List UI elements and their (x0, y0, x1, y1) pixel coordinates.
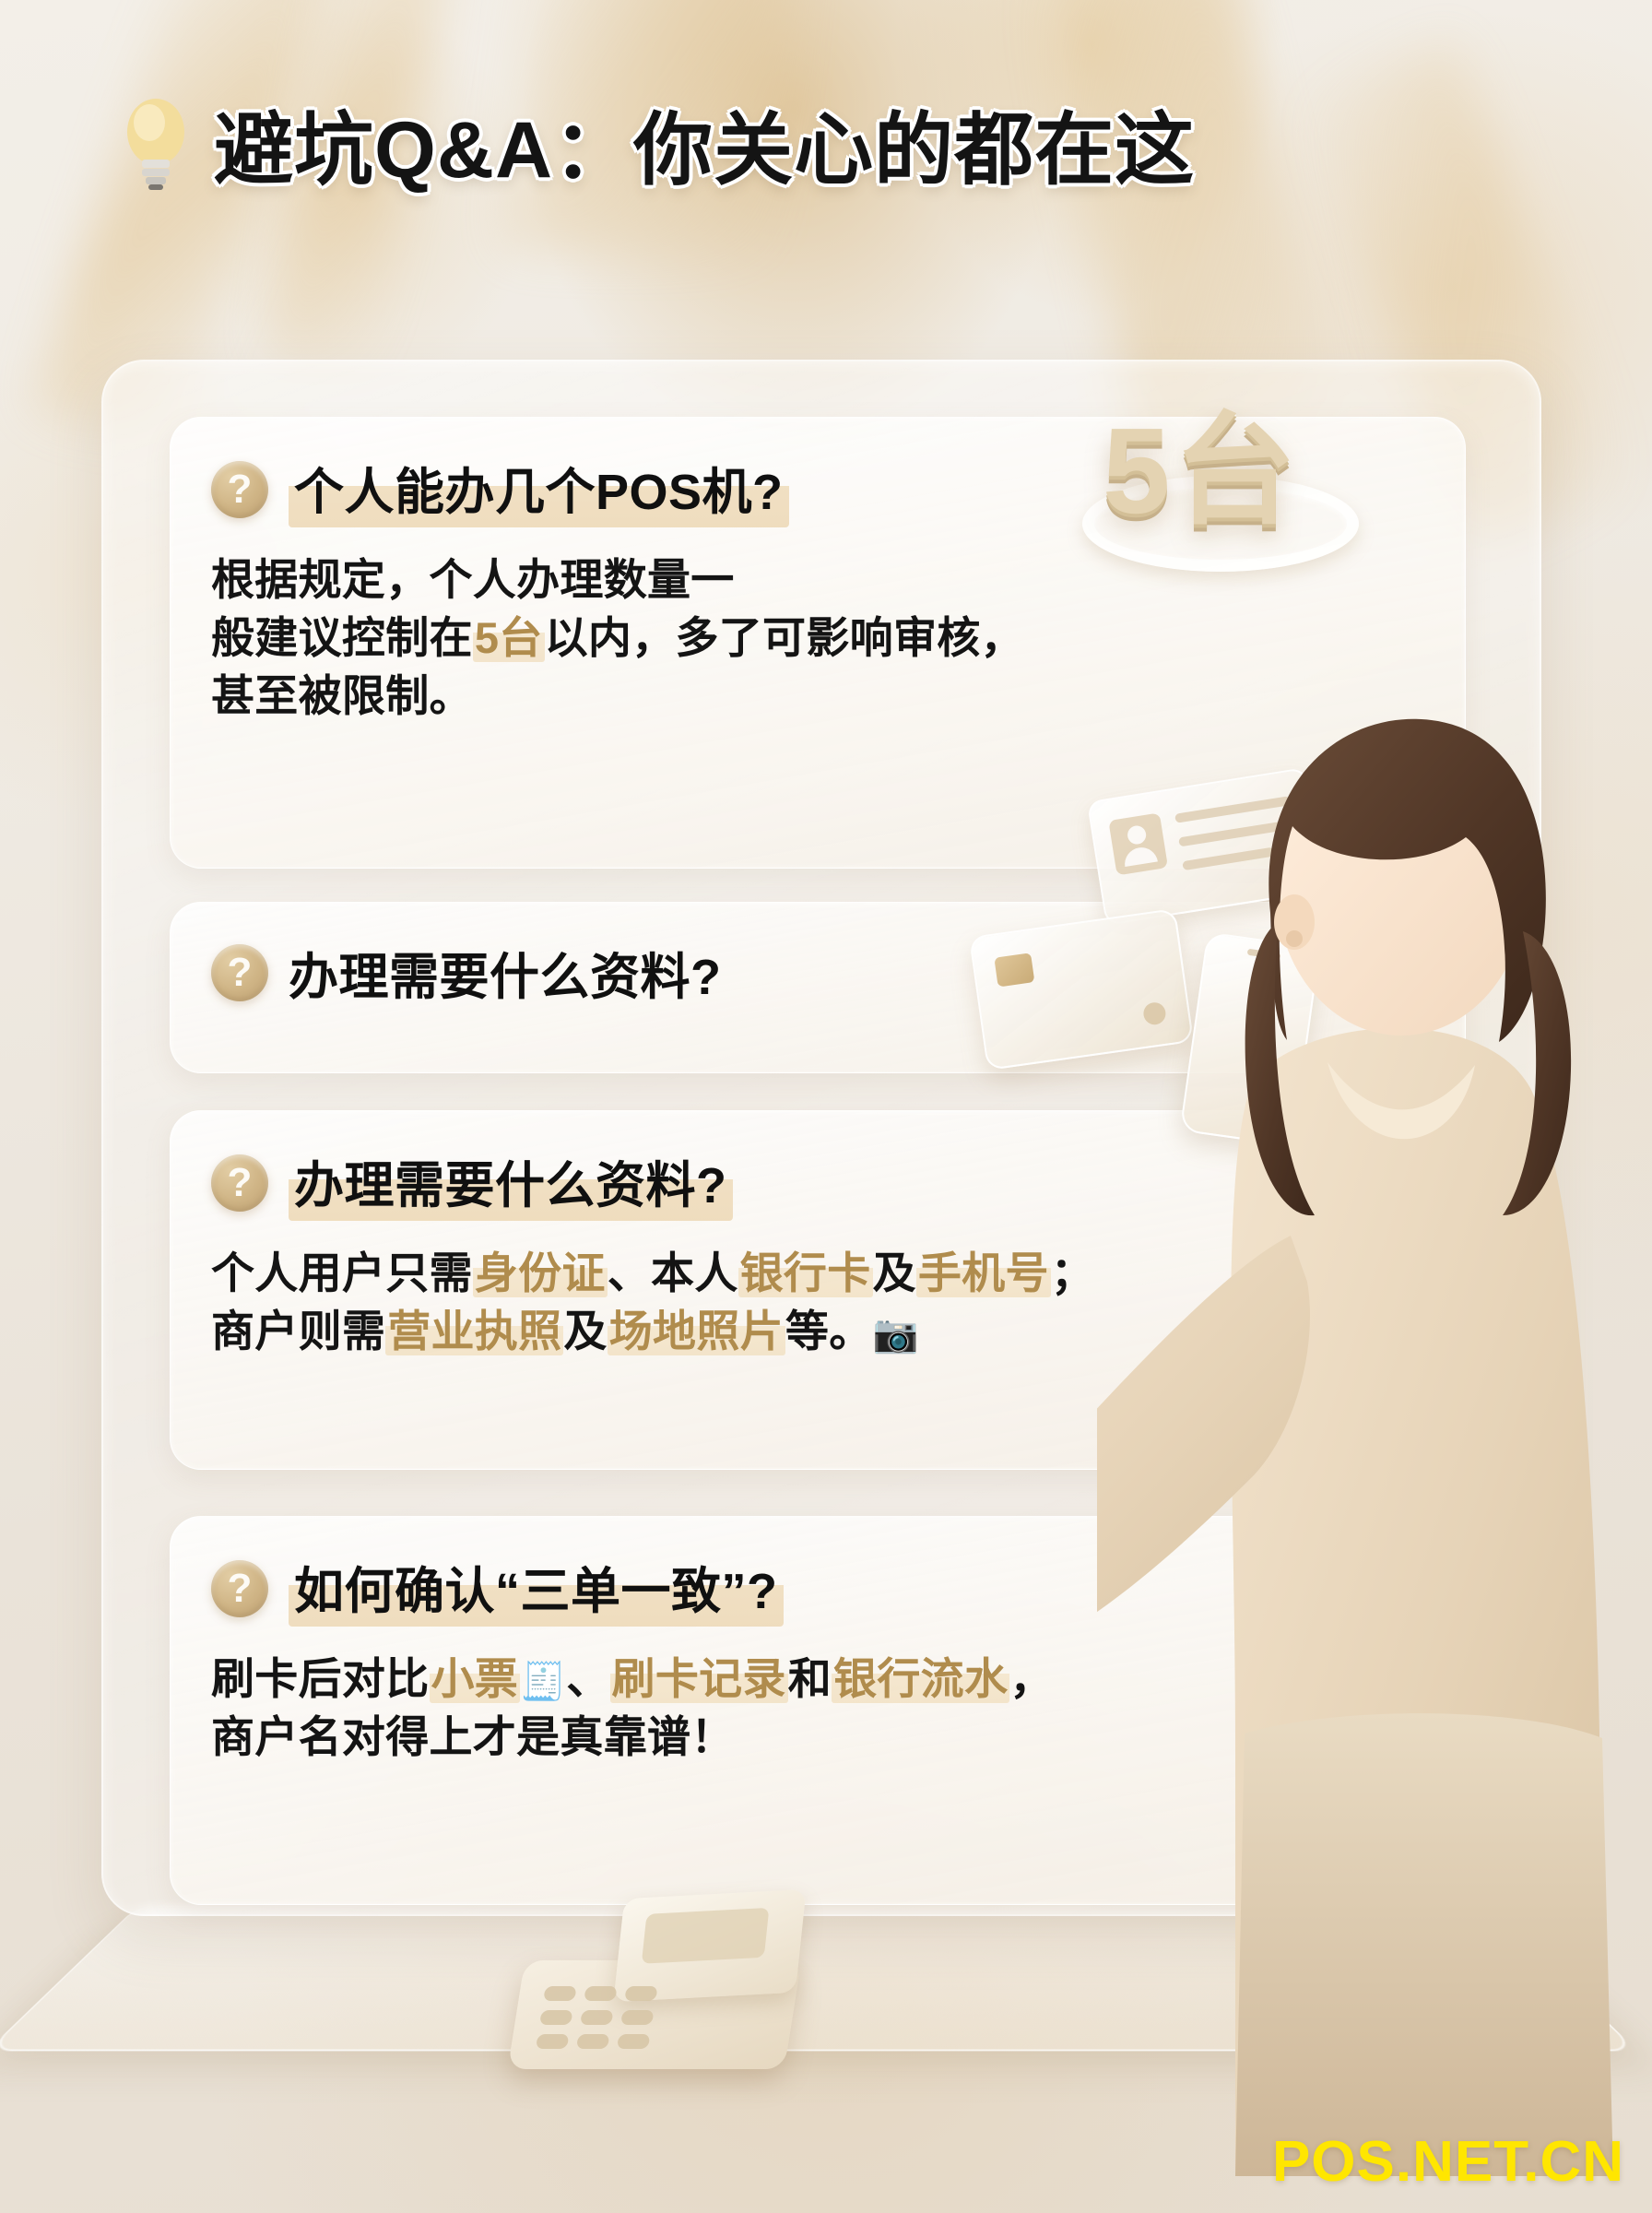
question-mark-icon: ? (211, 1560, 268, 1617)
answer-segment: 刷卡后对比 (211, 1654, 430, 1703)
camera-icon: 📷 (873, 1314, 919, 1355)
answer-segment: 个人用户只需 (211, 1249, 473, 1297)
qa-card[interactable]: ? 办理需要什么资料? (170, 902, 1466, 1073)
answer-line: 刷卡后对比小票🧾、刷卡记录和银行流水， (211, 1651, 1424, 1709)
answer-highlight: 场地照片 (608, 1307, 785, 1355)
answer-line: 个人用户只需身份证、本人银行卡及手机号； (211, 1245, 1424, 1303)
question-mark-icon: ? (211, 461, 268, 518)
answer-segment: 、 (566, 1654, 609, 1703)
answer-body: 个人用户只需身份证、本人银行卡及手机号； 商户则需营业执照及场地照片等。📷 (211, 1245, 1424, 1361)
qa-card[interactable]: ? 个人能办几个POS机? 根据规定，个人办理数量一 般建议控制在5台以内，多了… (170, 417, 1466, 869)
glass-shelf (0, 1905, 1638, 2051)
answer-highlight: 手机号 (916, 1249, 1051, 1297)
page-title: 避坑Q&A：你关心的都在这 (214, 85, 1195, 200)
page-header: 避坑Q&A：你关心的都在这 (122, 85, 1195, 200)
question-mark-icon: ? (211, 944, 268, 1001)
answer-highlight: 银行流水 (832, 1654, 1009, 1703)
lightbulb-icon (122, 95, 190, 191)
answer-highlight: 刷卡记录 (610, 1654, 788, 1703)
poster-root: 避坑Q&A：你关心的都在这 5台 (0, 0, 1652, 2213)
question-row: ? 如何确认“三单一致”? (211, 1550, 1424, 1627)
question-title: 办理需要什么资料? (289, 936, 722, 1009)
answer-segment: 甚至被限制。 (211, 671, 473, 720)
answer-segment: ； (1051, 1249, 1094, 1297)
question-row: ? 办理需要什么资料? (211, 1144, 1424, 1221)
answer-segment: 以内，多了可影响审核， (545, 613, 1024, 662)
answer-body: 根据规定，个人办理数量一 般建议控制在5台以内，多了可影响审核， 甚至被限制。 (211, 551, 1424, 726)
answer-highlight: 5台 (473, 613, 545, 662)
answer-segment: ， (1009, 1654, 1053, 1703)
answer-segment: 及 (563, 1307, 607, 1355)
receipt-icon: 🧾 (520, 1662, 566, 1702)
answer-line: 甚至被限制。 (211, 668, 1424, 726)
answer-segment: 、本人 (608, 1249, 738, 1297)
qa-card[interactable]: ? 办理需要什么资料? 个人用户只需身份证、本人银行卡及手机号； 商户则需营业执… (170, 1110, 1466, 1470)
answer-segment: 商户名对得上才是真靠谱！ (211, 1712, 735, 1761)
answer-highlight: 营业执照 (385, 1307, 563, 1355)
answer-segment: 根据规定，个人办理数量一 (211, 555, 735, 604)
question-title: 办理需要什么资料? (289, 1144, 733, 1221)
answer-line: 商户名对得上才是真靠谱！ (211, 1709, 1424, 1767)
question-title: 如何确认“三单一致”? (289, 1550, 784, 1627)
answer-segment: 般建议控制在 (211, 613, 473, 662)
answer-segment: 商户则需 (211, 1307, 385, 1355)
answer-line: 般建议控制在5台以内，多了可影响审核， (211, 609, 1424, 668)
qa-card[interactable]: ? 如何确认“三单一致”? 刷卡后对比小票🧾、刷卡记录和银行流水， 商户名对得上… (170, 1516, 1466, 1905)
answer-highlight: 银行卡 (738, 1249, 873, 1297)
question-row: ? 个人能办几个POS机? (211, 451, 1424, 527)
question-row: ? 办理需要什么资料? (211, 936, 1424, 1009)
answer-segment: 及 (873, 1249, 916, 1297)
answer-highlight: 身份证 (473, 1249, 608, 1297)
answer-highlight: 小票 (430, 1654, 521, 1703)
answer-line: 根据规定，个人办理数量一 (211, 551, 1424, 609)
answer-body: 刷卡后对比小票🧾、刷卡记录和银行流水， 商户名对得上才是真靠谱！ (211, 1651, 1424, 1767)
answer-segment: 和 (788, 1654, 832, 1703)
answer-line: 商户则需营业执照及场地照片等。📷 (211, 1303, 1424, 1361)
site-watermark: POS.NET.CN (1272, 2129, 1624, 2195)
question-mark-icon: ? (211, 1154, 268, 1212)
answer-segment: 等。 (785, 1307, 873, 1355)
question-title: 个人能办几个POS机? (289, 451, 789, 527)
